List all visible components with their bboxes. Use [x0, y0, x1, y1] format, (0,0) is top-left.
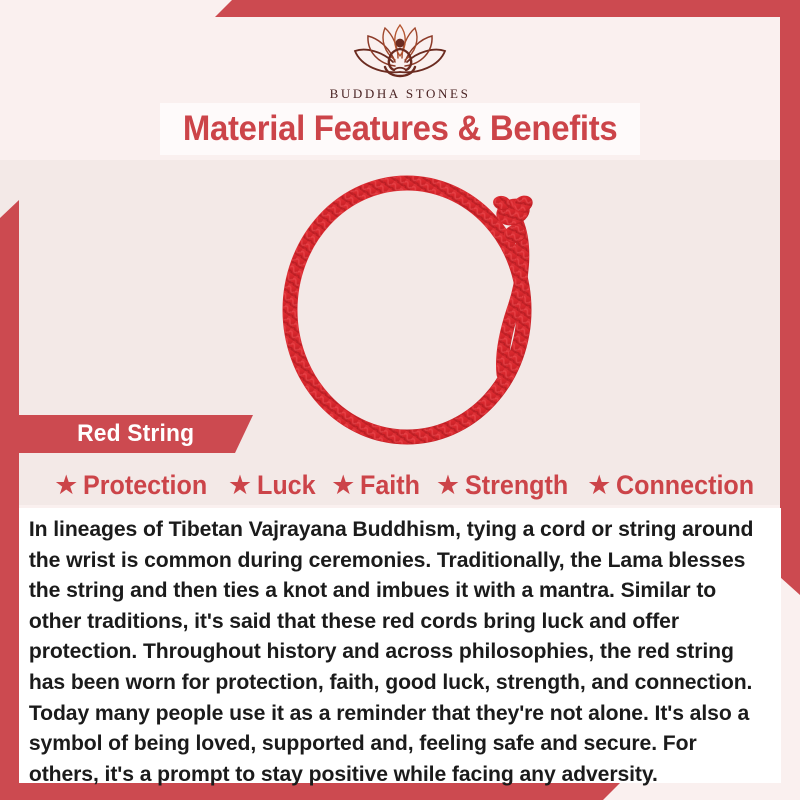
decoration-top-red-bar	[215, 0, 800, 17]
brand-logo: BUDDHA STONES	[0, 20, 800, 102]
star-icon: ★	[228, 472, 252, 499]
brand-name: BUDDHA STONES	[0, 86, 800, 102]
decoration-left-red-bar	[0, 200, 19, 785]
product-label: Red String	[77, 420, 194, 448]
benefit-label: Luck	[257, 470, 316, 501]
lotus-meditation-figure-icon	[335, 20, 465, 82]
benefit-label: Strength	[465, 470, 568, 501]
infographic-poster: BUDDHA STONES Material Features & Benefi…	[0, 0, 800, 800]
benefit-item-faith: ★ Faith	[322, 470, 425, 501]
star-icon: ★	[54, 472, 78, 499]
benefit-item-protection: ★ Protection	[45, 470, 217, 501]
benefit-label: Faith	[360, 470, 420, 501]
benefit-item-luck: ★ Luck	[219, 470, 320, 501]
red-cord-bracelet-icon	[255, 160, 585, 460]
star-icon: ★	[587, 472, 611, 499]
page-title: Material Features & Benefits	[183, 109, 618, 149]
decoration-right-red-bar	[780, 17, 800, 595]
description-panel: In lineages of Tibetan Vajrayana Buddhis…	[19, 508, 781, 783]
benefit-item-connection: ★ Connection	[578, 470, 765, 501]
description-text: In lineages of Tibetan Vajrayana Buddhis…	[19, 508, 770, 789]
product-label-banner: Red String	[18, 415, 253, 453]
star-icon: ★	[436, 472, 460, 499]
product-image	[255, 160, 585, 460]
benefit-label: Connection	[616, 470, 754, 501]
star-icon: ★	[331, 472, 355, 499]
page-title-band: Material Features & Benefits	[160, 103, 640, 155]
benefits-list: ★ Protection ★ Luck ★ Faith ★ Strength ★…	[40, 464, 770, 506]
benefit-label: Protection	[83, 470, 207, 501]
benefit-item-strength: ★ Strength	[427, 470, 576, 501]
